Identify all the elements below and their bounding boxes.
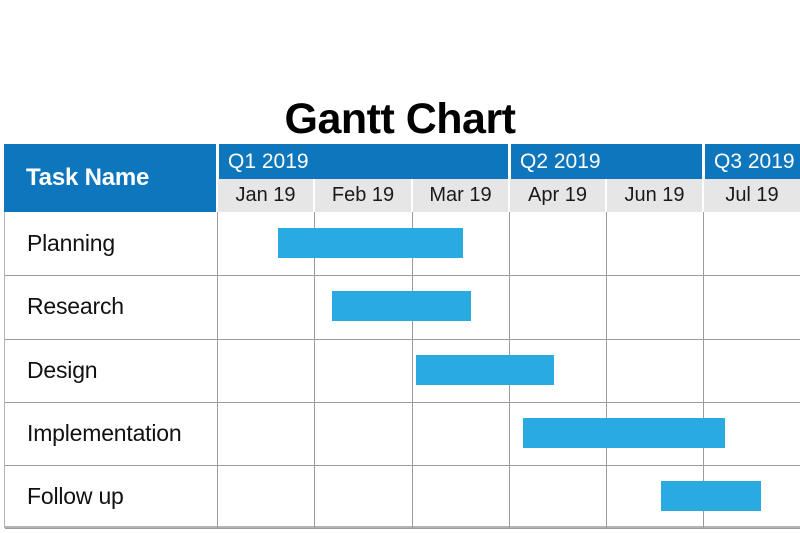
month-header-cell: Apr 19 <box>508 179 605 212</box>
table-header: Task Name Q1 2019Q2 2019Q3 2019 Jan 19Fe… <box>4 144 800 212</box>
page-title: Gantt Chart <box>0 96 800 142</box>
task-name-label: Design <box>27 339 97 402</box>
gantt-table: Task Name Q1 2019Q2 2019Q3 2019 Jan 19Fe… <box>4 144 800 528</box>
gantt-chart-page: Gantt Chart Task Name Q1 2019Q2 2019Q3 2… <box>0 0 800 533</box>
quarter-header-1: Q1 2019 <box>216 144 508 179</box>
task-name-label: Research <box>27 275 124 338</box>
quarter-header-2: Q2 2019 <box>508 144 702 179</box>
gantt-bar[interactable] <box>416 355 554 385</box>
task-name-label: Implementation <box>27 402 181 465</box>
gantt-bar[interactable] <box>332 291 471 321</box>
table-body: PlanningResearchDesignImplementationFoll… <box>4 212 800 528</box>
quarter-header-3: Q3 2019 <box>702 144 800 179</box>
month-header-cell: Jul 19 <box>702 179 800 212</box>
month-header-cell: Jun 19 <box>605 179 702 212</box>
table-row[interactable]: Design <box>5 339 800 402</box>
task-name-label: Planning <box>27 212 115 275</box>
table-row[interactable]: Implementation <box>5 402 800 465</box>
column-header-task-name: Task Name <box>4 144 216 212</box>
table-row[interactable]: Follow up <box>5 465 800 528</box>
gantt-bar[interactable] <box>523 418 725 448</box>
table-row[interactable]: Planning <box>5 212 800 275</box>
gantt-bar[interactable] <box>661 481 761 511</box>
table-row[interactable]: Research <box>5 275 800 338</box>
task-name-label: Follow up <box>27 465 124 528</box>
month-header-cell: Feb 19 <box>313 179 411 212</box>
month-header-cell: Jan 19 <box>216 179 313 212</box>
gantt-bar[interactable] <box>278 228 463 258</box>
grid-row-line <box>5 528 800 529</box>
month-header-cell: Mar 19 <box>411 179 508 212</box>
